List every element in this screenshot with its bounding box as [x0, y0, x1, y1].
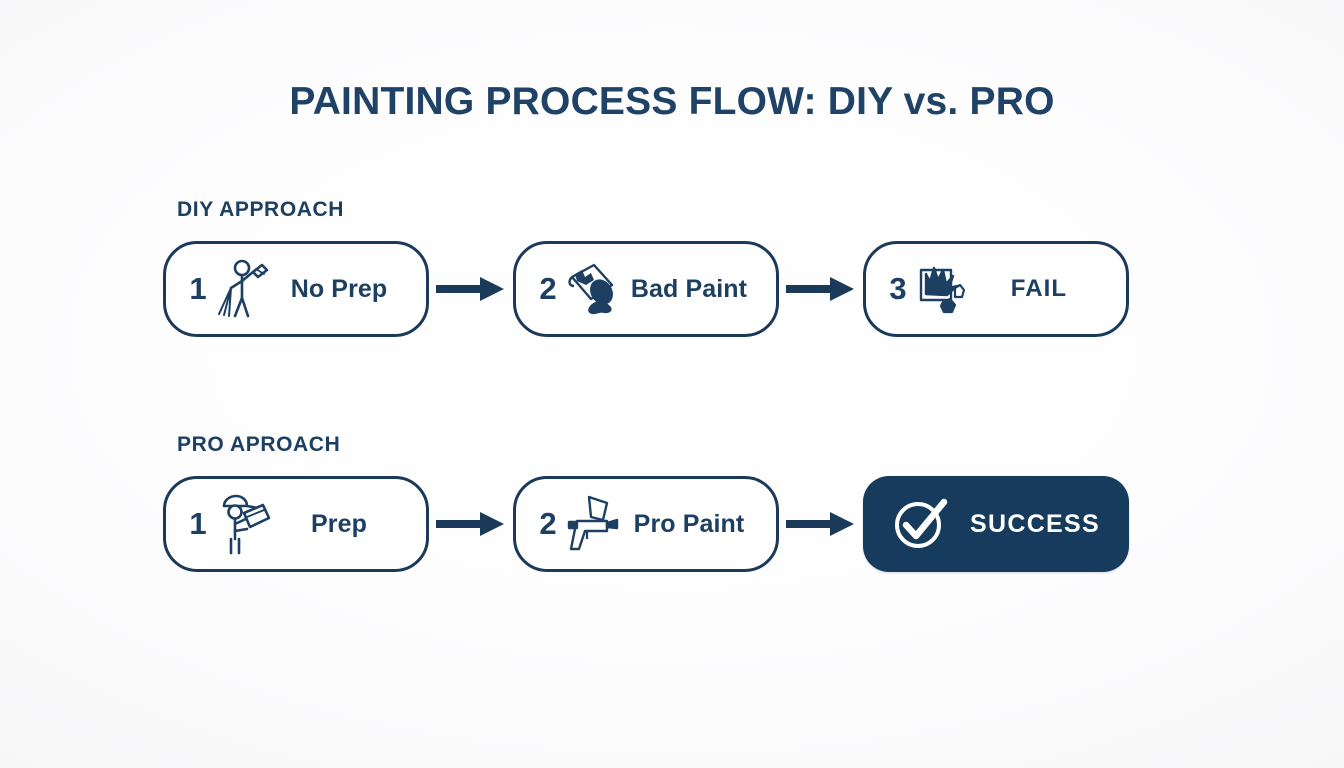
step-number: 2: [536, 271, 560, 307]
step-number: 3: [886, 271, 910, 307]
step-card-no-prep[interactable]: 1 No Prep: [163, 241, 429, 337]
step-label: Prep: [274, 510, 410, 539]
step-label: FAIL: [974, 275, 1110, 303]
step-number: 1: [186, 506, 210, 542]
painter-no-prep-icon: [212, 256, 274, 322]
step-card-pro-paint[interactable]: 2 Pro Paint: [513, 476, 779, 572]
worker-sanding-icon: [212, 491, 274, 557]
step-number: 1: [186, 271, 210, 307]
step-card-bad-paint[interactable]: 2 Bad Paint: [513, 241, 779, 337]
arrow-right-icon: [779, 507, 863, 541]
section-label-pro: PRO APROACH: [177, 433, 1129, 459]
step-card-success[interactable]: SUCCESS: [863, 476, 1129, 572]
section-label-diy: DIY APPROACH: [177, 198, 1129, 224]
flow-row-diy: 1 No Prep: [163, 241, 1129, 337]
flow-row-pro: 1: [163, 476, 1129, 572]
page-title: PAINTING PROCESS FLOW: DIY vs. PRO: [0, 76, 1344, 128]
spray-gun-icon: [562, 491, 624, 557]
step-card-prep[interactable]: 1: [163, 476, 429, 572]
section-diy: DIY APPROACH 1: [163, 198, 1129, 337]
section-pro: PRO APROACH 1: [163, 433, 1129, 572]
step-label: No Prep: [274, 275, 410, 304]
arrow-right-icon: [429, 272, 513, 306]
step-label: Bad Paint: [624, 275, 760, 304]
arrow-right-icon: [429, 507, 513, 541]
spilled-paint-can-icon: [562, 256, 624, 322]
peeling-paint-icon: [912, 256, 974, 322]
check-circle-icon: [892, 496, 948, 552]
step-number: 2: [536, 506, 560, 542]
arrow-right-icon: [779, 272, 863, 306]
infographic-canvas: PAINTING PROCESS FLOW: DIY vs. PRO DIY A…: [0, 0, 1344, 768]
step-card-fail[interactable]: 3 FAIL: [863, 241, 1129, 337]
step-label: Pro Paint: [624, 510, 760, 539]
step-label: SUCCESS: [970, 510, 1100, 539]
